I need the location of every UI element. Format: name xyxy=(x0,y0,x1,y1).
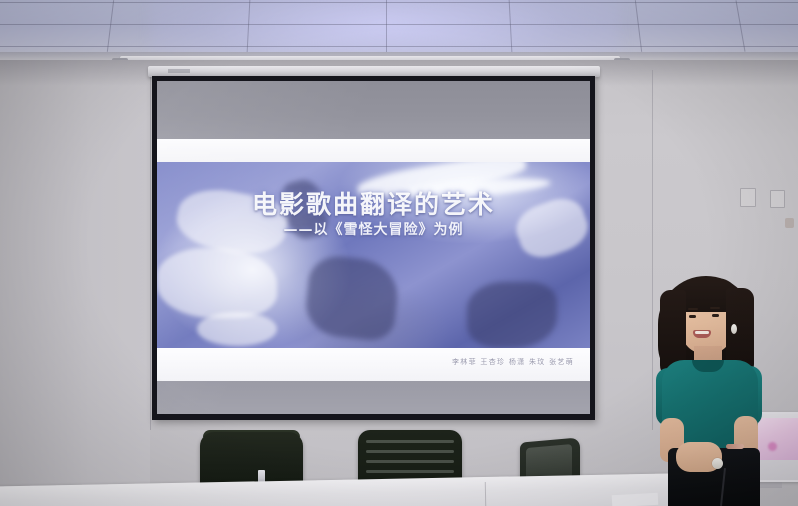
presenter-eye xyxy=(712,314,719,317)
rock-shadow xyxy=(303,254,401,343)
ceiling-grid-line xyxy=(0,2,798,3)
ceiling-grid-line xyxy=(0,24,798,25)
left-wall xyxy=(0,60,150,506)
chair-mesh-line xyxy=(366,450,454,453)
chair-mesh-line xyxy=(366,460,454,463)
projector-screen-frame: 电影歌曲翻译的艺术 ——以《雪怪大冒险》为例 李林菲 王杏珍 杨潇 朱玟 张艺萌 xyxy=(152,76,595,420)
slide-authors: 李林菲 王杏珍 杨潇 朱玟 张艺萌 xyxy=(452,357,574,367)
slide-white-band-top xyxy=(157,139,590,162)
ceiling-grid-line xyxy=(635,0,642,52)
ceiling-grid-line xyxy=(386,0,387,52)
presenter-eye xyxy=(689,315,696,318)
slide-subtitle: ——以《雪怪大冒险》为例 xyxy=(157,219,590,239)
presenter-eyebrow xyxy=(688,308,698,310)
wall-seam xyxy=(150,70,151,430)
presenter-skirt-button xyxy=(712,458,723,469)
presenter-earring xyxy=(731,324,737,334)
presentation-slide: 电影歌曲翻译的艺术 ——以《雪怪大冒险》为例 李林菲 王杏珍 杨潇 朱玟 张艺萌 xyxy=(157,81,590,414)
chair-left[interactable] xyxy=(200,432,303,488)
housing-label xyxy=(168,69,190,73)
presenter-eyebrow xyxy=(710,307,720,309)
ceiling-light-glow xyxy=(150,0,620,58)
projector-screen-surface: 电影歌曲翻译的艺术 ——以《雪怪大冒险》为例 李林菲 王杏珍 杨潇 朱玟 张艺萌 xyxy=(157,81,590,414)
presenter xyxy=(636,272,776,506)
rock-shadow xyxy=(467,282,557,348)
presenter-bracelet xyxy=(726,444,744,449)
chair-mesh-line xyxy=(366,470,454,473)
snow-patch xyxy=(157,248,277,318)
snow-patch xyxy=(197,312,277,346)
wall-switch[interactable] xyxy=(770,190,785,208)
chair-mesh-line xyxy=(366,440,454,443)
slide-bottom-band xyxy=(157,381,590,414)
slide-title: 电影歌曲翻译的艺术 xyxy=(157,185,590,221)
classroom-photo: 电影歌曲翻译的艺术 ——以《雪怪大冒险》为例 李林菲 王杏珍 杨潇 朱玟 张艺萌 xyxy=(0,0,798,506)
slide-top-band xyxy=(157,81,590,139)
presenter-teeth xyxy=(695,331,709,334)
wall-outlet[interactable] xyxy=(740,188,756,207)
ceiling-grid-line xyxy=(0,46,798,47)
wall-mark xyxy=(785,218,794,228)
ceiling-grid-line xyxy=(107,0,114,52)
ceiling-grid-line xyxy=(735,0,745,51)
